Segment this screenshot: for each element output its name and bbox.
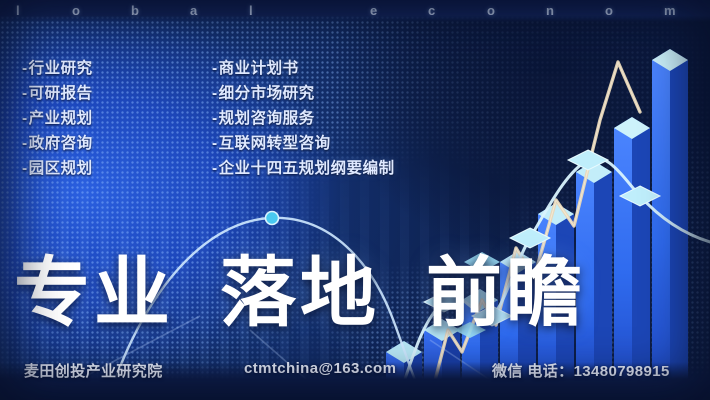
bullet-dash: - [212, 60, 218, 77]
wordmark-letter-8: n [546, 3, 554, 18]
service-left-item-4: -园区规划 [22, 156, 93, 181]
service-right-item-1: -细分市场研究 [212, 81, 395, 106]
wordmark-letter-5: e [370, 3, 377, 18]
bullet-dash: - [212, 110, 218, 127]
wordmark-letter-3: a [190, 3, 197, 18]
service-right-item-2: -规划咨询服务 [212, 106, 395, 131]
wordmark-letter-10: m [664, 3, 676, 18]
banner-canvas: lobaleconom -行业研究-可研报告-产业规划-政府咨询-园区规划 -商… [0, 0, 710, 400]
service-right-label: 规划咨询服务 [219, 110, 315, 127]
bullet-dash: - [212, 85, 218, 102]
footer: 麦田创投产业研究院 ctmtchina@163.com 微信 电话：134807… [0, 360, 710, 386]
email-address[interactable]: ctmtchina@163.com [244, 360, 396, 377]
service-left-label: 政府咨询 [29, 135, 93, 152]
service-left-label: 行业研究 [29, 60, 93, 77]
service-right-label: 商业计划书 [219, 60, 299, 77]
service-right-item-0: -商业计划书 [212, 56, 395, 81]
arc-dot [266, 212, 279, 225]
bullet-dash: - [22, 135, 28, 152]
bullet-dash: - [22, 160, 28, 177]
wordmark-letter-6: c [428, 3, 435, 18]
wordmark-global-economy: lobaleconom [0, 0, 710, 24]
service-left-item-2: -产业规划 [22, 106, 93, 131]
slogan: 专业 落地 前瞻 [14, 248, 704, 340]
bullet-dash: - [22, 110, 28, 127]
bullet-dash: - [212, 160, 218, 177]
slogan-word-1: 专业 [14, 251, 174, 337]
service-left-label: 园区规划 [29, 160, 93, 177]
bar-8 [652, 49, 688, 400]
wordmark-letter-1: o [72, 3, 80, 18]
slogan-word-2: 落地 [220, 251, 380, 337]
service-right-item-3: -互联网转型咨询 [212, 131, 395, 156]
wordmark-letter-4: l [249, 3, 253, 18]
service-left-item-1: -可研报告 [22, 81, 93, 106]
wordmark-letter-7: o [487, 3, 495, 18]
bullet-dash: - [22, 85, 28, 102]
service-left-label: 可研报告 [29, 85, 93, 102]
service-left-item-3: -政府咨询 [22, 131, 93, 156]
contact-phone: 微信 电话：13480798915 [492, 360, 670, 381]
service-left-item-0: -行业研究 [22, 56, 93, 81]
wordmark-letter-0: l [16, 3, 20, 18]
slogan-word-3: 前瞻 [426, 251, 586, 337]
bullet-dash: - [22, 60, 28, 77]
service-right-label: 企业十四五规划纲要编制 [219, 160, 395, 177]
service-left-label: 产业规划 [29, 110, 93, 127]
wordmark-letter-2: b [131, 3, 139, 18]
service-list-left: -行业研究-可研报告-产业规划-政府咨询-园区规划 [22, 56, 93, 181]
company-name: 麦田创投产业研究院 [24, 360, 163, 381]
service-list-right: -商业计划书-细分市场研究-规划咨询服务-互联网转型咨询-企业十四五规划纲要编制 [212, 56, 395, 181]
service-right-label: 互联网转型咨询 [219, 135, 331, 152]
service-right-label: 细分市场研究 [219, 85, 315, 102]
bullet-dash: - [212, 135, 218, 152]
service-right-item-4: -企业十四五规划纲要编制 [212, 156, 395, 181]
wordmark-letter-9: o [605, 3, 613, 18]
